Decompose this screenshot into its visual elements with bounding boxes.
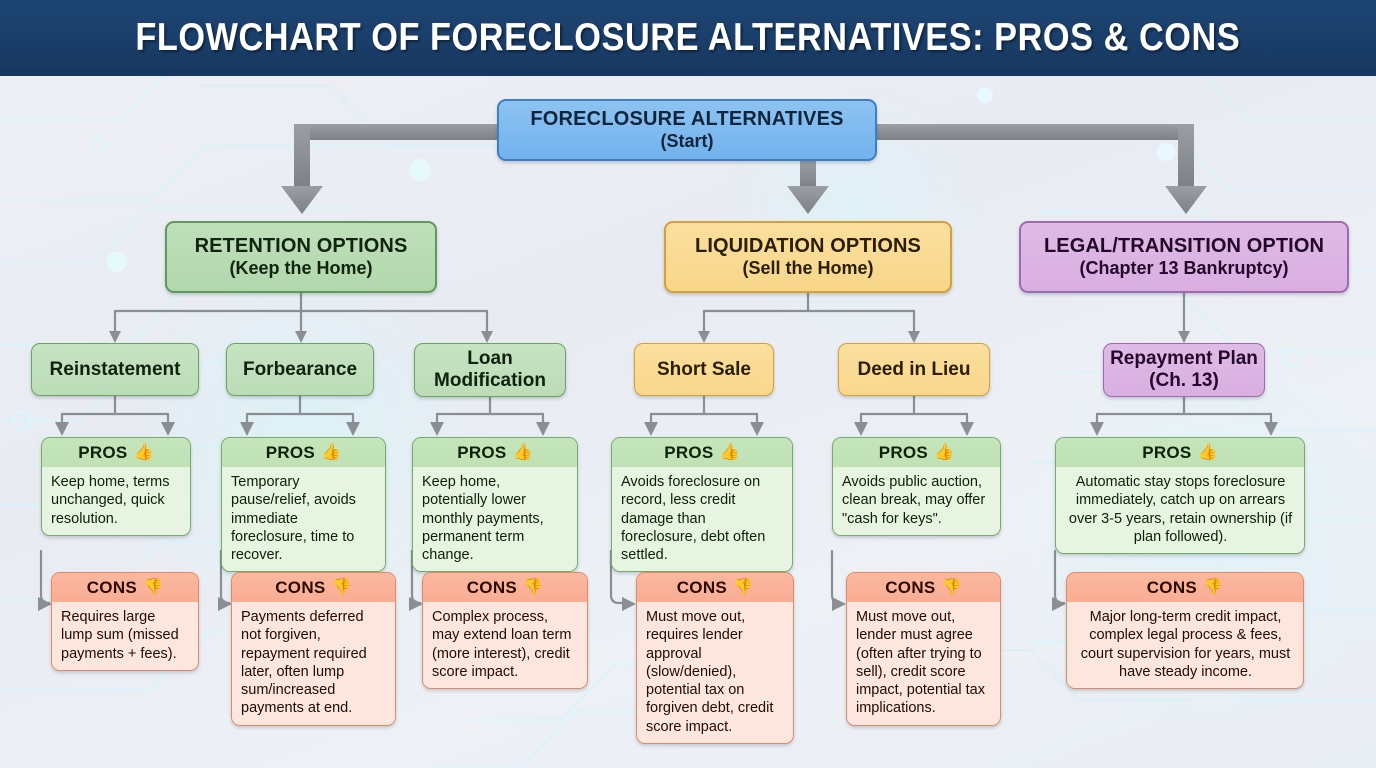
pros-card-short-sale: PROS 👍 Avoids foreclosure on record, les…: [611, 437, 793, 572]
cons-card-repayment-plan: CONS 👎 Major long-term credit impact, co…: [1066, 572, 1304, 689]
cons-card-loan-modification: CONS 👎 Complex process, may extend loan …: [422, 572, 588, 689]
pros-card-deed-in-lieu: PROS 👍 Avoids public auction, clean brea…: [832, 437, 1001, 536]
cons-text: Payments deferred not forgiven, repaymen…: [232, 602, 395, 725]
pros-text: Keep home, potentially lower monthly pay…: [413, 467, 577, 571]
node-repayment-plan[interactable]: Repayment Plan (Ch. 13): [1103, 343, 1265, 397]
thumbs-down-icon: 👎: [143, 580, 163, 596]
node-reinstatement[interactable]: Reinstatement: [31, 343, 199, 396]
cons-label: CONS: [275, 578, 325, 598]
node-liquidation-options[interactable]: LIQUIDATION OPTIONS (Sell the Home): [664, 221, 952, 293]
pros-label: PROS: [664, 443, 713, 463]
cons-label: CONS: [885, 578, 935, 598]
pros-label: PROS: [879, 443, 928, 463]
cons-header: CONS 👎: [232, 573, 395, 602]
thumbs-down-icon: 👎: [332, 580, 352, 596]
cons-header: CONS 👎: [423, 573, 587, 602]
cons-header: CONS 👎: [1067, 573, 1303, 602]
node-legal-transition-option[interactable]: LEGAL/TRANSITION OPTION (Chapter 13 Bank…: [1019, 221, 1349, 293]
pros-card-reinstatement: PROS 👍 Keep home, terms unchanged, quick…: [41, 437, 191, 536]
node-loan-modification[interactable]: Loan Modification: [414, 343, 566, 397]
cons-card-deed-in-lieu: CONS 👎 Must move out, lender must agree …: [846, 572, 1001, 726]
cons-card-short-sale: CONS 👎 Must move out, requires lender ap…: [636, 572, 794, 744]
legal-subtitle: (Chapter 13 Bankruptcy): [1079, 258, 1288, 279]
cons-label: CONS: [677, 578, 727, 598]
page-header: FLOWCHART OF FORECLOSURE ALTERNATIVES: P…: [0, 0, 1376, 76]
thumbs-up-icon: 👍: [513, 445, 533, 461]
pros-text: Keep home, terms unchanged, quick resolu…: [42, 467, 190, 535]
thumbs-up-icon: 👍: [720, 445, 740, 461]
cons-label: CONS: [87, 578, 137, 598]
flowchart-page: FLOWCHART OF FORECLOSURE ALTERNATIVES: P…: [0, 0, 1376, 768]
pros-card-loan-modification: PROS 👍 Keep home, potentially lower mont…: [412, 437, 578, 572]
pros-card-forbearance: PROS 👍 Temporary pause/relief, avoids im…: [221, 437, 386, 572]
pros-label: PROS: [266, 443, 315, 463]
pros-header: PROS 👍: [42, 438, 190, 467]
pros-text: Avoids foreclosure on record, less credi…: [612, 467, 792, 571]
deedinlieu-label: Deed in Lieu: [858, 359, 971, 381]
pros-header: PROS 👍: [222, 438, 385, 467]
pros-text: Temporary pause/relief, avoids immediate…: [222, 467, 385, 571]
retention-subtitle: (Keep the Home): [229, 258, 372, 279]
cons-text: Requires large lump sum (missed payments…: [52, 602, 198, 670]
pros-header: PROS 👍: [612, 438, 792, 467]
thumbs-up-icon: 👍: [1198, 445, 1218, 461]
cons-label: CONS: [467, 578, 517, 598]
node-short-sale[interactable]: Short Sale: [634, 343, 774, 396]
cons-card-reinstatement: CONS 👎 Requires large lump sum (missed p…: [51, 572, 199, 671]
forbearance-label: Forbearance: [243, 359, 357, 381]
shortsale-label: Short Sale: [657, 359, 751, 381]
reinstatement-label: Reinstatement: [50, 359, 181, 381]
liquidation-subtitle: (Sell the Home): [742, 258, 873, 279]
thumbs-down-icon: 👎: [942, 580, 962, 596]
cons-card-forbearance: CONS 👎 Payments deferred not forgiven, r…: [231, 572, 396, 726]
cons-header: CONS 👎: [847, 573, 1000, 602]
pros-label: PROS: [78, 443, 127, 463]
thumbs-up-icon: 👍: [321, 445, 341, 461]
node-deed-in-lieu[interactable]: Deed in Lieu: [838, 343, 990, 396]
cons-text: Must move out, lender must agree (often …: [847, 602, 1000, 725]
legal-title: LEGAL/TRANSITION OPTION: [1044, 235, 1324, 258]
thumbs-up-icon: 👍: [134, 445, 154, 461]
cons-text: Must move out, requires lender approval …: [637, 602, 793, 743]
pros-card-repayment-plan: PROS 👍 Automatic stay stops foreclosure …: [1055, 437, 1305, 554]
retention-title: RETENTION OPTIONS: [195, 235, 408, 258]
page-title: FLOWCHART OF FORECLOSURE ALTERNATIVES: P…: [136, 16, 1241, 60]
loanmod-label-line2: Modification: [434, 370, 546, 392]
pros-text: Automatic stay stops foreclosure immedia…: [1056, 467, 1304, 553]
cons-text: Complex process, may extend loan term (m…: [423, 602, 587, 688]
pros-text: Avoids public auction, clean break, may …: [833, 467, 1000, 535]
pros-label: PROS: [1142, 443, 1191, 463]
pros-header: PROS 👍: [1056, 438, 1304, 467]
cons-header: CONS 👎: [637, 573, 793, 602]
repayment-label-line2: (Ch. 13): [1149, 370, 1219, 392]
node-forbearance[interactable]: Forbearance: [226, 343, 374, 396]
thumbs-down-icon: 👎: [733, 580, 753, 596]
cons-label: CONS: [1147, 578, 1197, 598]
cons-header: CONS 👎: [52, 573, 198, 602]
start-node-line2: (Start): [661, 131, 714, 152]
repayment-label-line1: Repayment Plan: [1110, 348, 1258, 370]
pros-header: PROS 👍: [833, 438, 1000, 467]
pros-label: PROS: [457, 443, 506, 463]
liquidation-title: LIQUIDATION OPTIONS: [695, 235, 921, 258]
thumbs-down-icon: 👎: [523, 580, 543, 596]
thumbs-down-icon: 👎: [1203, 580, 1223, 596]
node-foreclosure-alternatives-start[interactable]: FORECLOSURE ALTERNATIVES (Start): [497, 99, 877, 161]
node-retention-options[interactable]: RETENTION OPTIONS (Keep the Home): [165, 221, 437, 293]
pros-header: PROS 👍: [413, 438, 577, 467]
loanmod-label-line1: Loan: [467, 348, 512, 370]
cons-text: Major long-term credit impact, complex l…: [1067, 602, 1303, 688]
thumbs-up-icon: 👍: [934, 445, 954, 461]
start-node-line1: FORECLOSURE ALTERNATIVES: [530, 108, 843, 131]
